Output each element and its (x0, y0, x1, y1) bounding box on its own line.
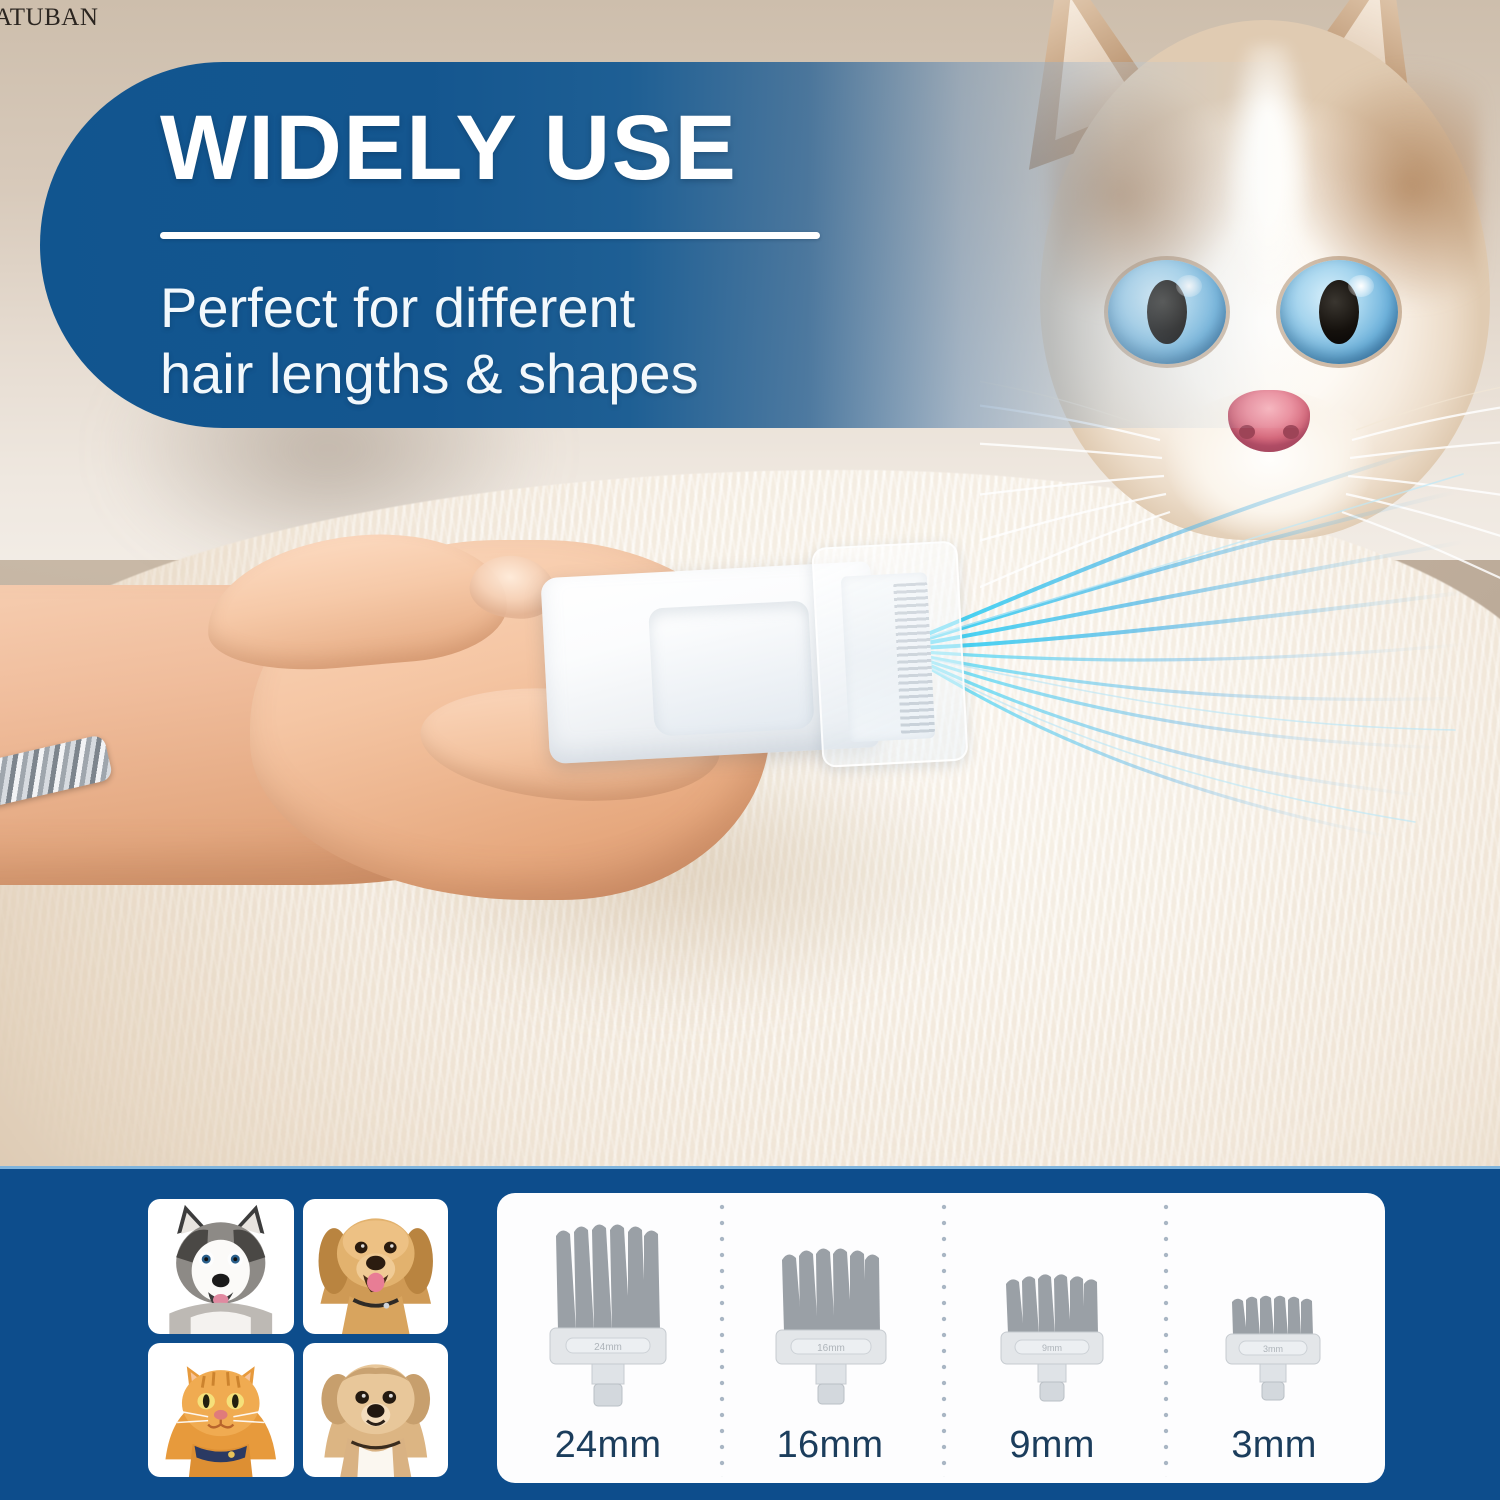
svg-text:9mm: 9mm (1042, 1343, 1062, 1353)
terrier-puppy-illustration (303, 1343, 448, 1478)
husky-illustration (148, 1199, 293, 1334)
bottom-panel: 24mm 24mm (0, 1166, 1500, 1500)
comb-label-24mm: 24mm (555, 1424, 662, 1467)
comb-item-24mm: 24mm 24mm (497, 1193, 719, 1483)
svg-text:24mm: 24mm (594, 1342, 622, 1353)
headline-banner: WIDELY USE Perfect for different hair le… (40, 62, 1320, 428)
clipper-guard-attachment (811, 541, 968, 768)
comb-label-3mm: 3mm (1231, 1424, 1316, 1467)
clipper-grip (648, 600, 814, 736)
comb-16mm-icon: 16mm (760, 1218, 900, 1418)
comb-3mm-icon: 3mm (1212, 1218, 1336, 1418)
brand-watermark: ATUBAN (0, 4, 98, 32)
pet-photo-grid (148, 1199, 448, 1477)
subtitle-line-1: Perfect for different (160, 275, 1280, 341)
svg-text:3mm: 3mm (1263, 1344, 1283, 1354)
comb-label-9mm: 9mm (1009, 1424, 1094, 1467)
pet-card-golden-retriever (303, 1199, 449, 1334)
svg-text:16mm: 16mm (817, 1343, 845, 1354)
pet-clipper-device (539, 534, 980, 786)
title-divider (160, 232, 820, 239)
golden-retriever-illustration (303, 1199, 448, 1334)
orange-tabby-cat-illustration (148, 1343, 293, 1478)
comb-9mm-icon: 9mm (986, 1218, 1118, 1418)
banner-subtitle: Perfect for different hair lengths & sha… (160, 275, 1280, 407)
comb-label-16mm: 16mm (777, 1424, 884, 1467)
comb-item-9mm: 9mm 9mm (941, 1193, 1163, 1483)
pet-card-husky (148, 1199, 294, 1334)
pet-card-terrier-puppy (303, 1343, 449, 1478)
pet-card-orange-cat (148, 1343, 294, 1478)
comb-item-3mm: 3mm 3mm (1163, 1193, 1385, 1483)
hero-photo: WIDELY USE Perfect for different hair le… (0, 0, 1500, 1168)
product-feature-image: WIDELY USE Perfect for different hair le… (0, 0, 1500, 1500)
page-title: WIDELY USE (160, 102, 1280, 194)
comb-24mm-icon: 24mm (532, 1218, 684, 1418)
comb-attachments-card: 24mm 24mm (497, 1193, 1385, 1483)
comb-item-16mm: 16mm 16mm (719, 1193, 941, 1483)
subtitle-line-2: hair lengths & shapes (160, 341, 1280, 407)
